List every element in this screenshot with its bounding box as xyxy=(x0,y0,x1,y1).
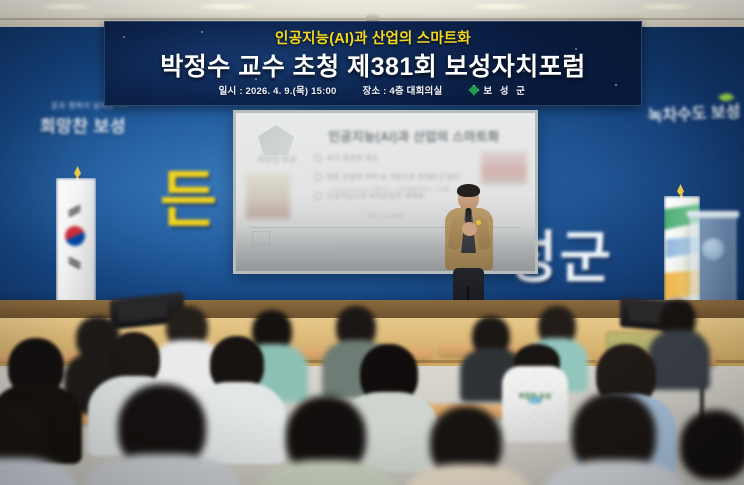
ceiling-light xyxy=(470,3,532,10)
list-item: AI가 중요한 세상 xyxy=(314,153,524,163)
lecture-hall-photo: 든 성군 꿈과 행복이 넘치는 희망찬 보성 녹차수도 보성 인공지능(AI)과… xyxy=(0,0,744,485)
audience-vest: 희망찬 보성 xyxy=(502,366,568,442)
presenter-hair xyxy=(457,184,480,197)
banner-date: 일시 : 2026. 4. 9.(목) 15:00 xyxy=(219,83,337,97)
bullet-icon xyxy=(314,173,322,181)
podium-top xyxy=(687,211,739,218)
boseong-logo-icon xyxy=(258,125,294,155)
vest-quilt-pattern xyxy=(502,366,568,442)
banner-title: 박정수 교수 초청 제381회 보성자치포럼 xyxy=(105,47,641,83)
wall-slogan-right: 녹차수도 보성 xyxy=(645,98,742,127)
wall-large-text-yellow: 든 xyxy=(160,149,219,239)
banner-place: 장소 : 4층 대회의실 xyxy=(362,83,442,97)
boseong-emblem-icon xyxy=(468,85,479,96)
slide-logo-caption: 희망찬 보성 xyxy=(250,154,304,165)
banner-meta: 일시 : 2026. 4. 9.(목) 15:00 장소 : 4층 대회의실 보… xyxy=(105,83,641,97)
banner-organizer: 보 성 군 xyxy=(468,83,527,97)
list-item: 모든 산업이 이미 AI 기반으로 전개되고 있다 xyxy=(314,172,524,182)
slogan-right-big: 녹차수도 보성 xyxy=(645,98,742,127)
audience-head xyxy=(680,410,744,480)
presenter-hands xyxy=(462,222,477,236)
slogan-left-big: 희망찬 보성 xyxy=(8,112,158,137)
speaker-grill xyxy=(120,301,166,322)
organizer-name: 보 성 군 xyxy=(483,83,527,97)
ceiling-light xyxy=(40,3,94,10)
ceiling-light xyxy=(196,3,256,10)
bullet-text: 모든 산업이 이미 AI 기반으로 전개되고 있다 xyxy=(327,172,460,182)
bullet-text: AI가 중요한 세상 xyxy=(327,153,378,163)
bullet-icon xyxy=(314,192,322,200)
slide-title: 인공지능(AI)과 산업의 스마트화 xyxy=(292,126,535,145)
taegeuk-icon xyxy=(62,223,89,250)
presenter-badge xyxy=(476,220,481,225)
vest-logo-text: 희망찬 보성 xyxy=(512,390,558,400)
podium-emblem-icon xyxy=(702,238,724,260)
banner-subtitle: 인공지능(AI)과 산업의 스마트화 xyxy=(105,27,641,48)
bullet-icon xyxy=(314,154,322,162)
audience-body xyxy=(648,330,710,390)
event-banner: 인공지능(AI)과 산업의 스마트화 박정수 교수 초청 제381회 보성자치포… xyxy=(104,21,642,106)
ceiling-light xyxy=(640,3,694,10)
